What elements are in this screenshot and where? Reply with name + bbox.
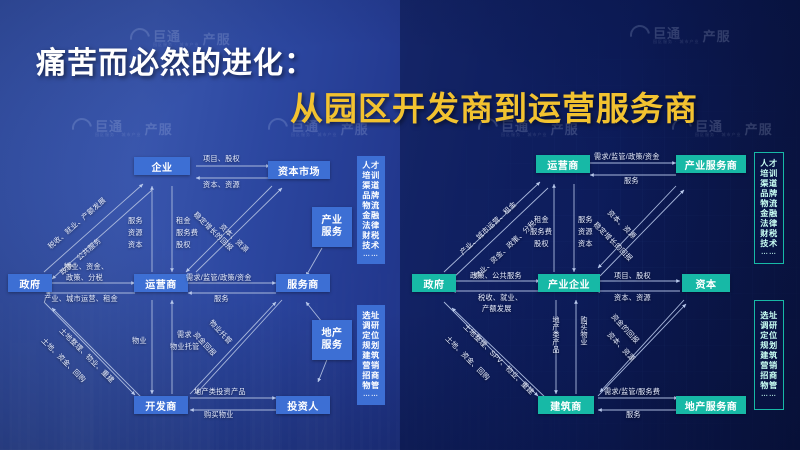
diagram-connectors	[0, 0, 800, 450]
edge-label-yysh-kfsh-left: 物业	[132, 336, 147, 345]
edge-label-yysh-kfsh-r2: 物业托管	[170, 342, 200, 351]
edge-label-r-yysh-cyfws-top: 需求/监管/政策/资金	[594, 152, 660, 161]
edge-label-yysh-qiye-c1l1: 服务	[128, 216, 143, 225]
node-right-chanye-fuwushang[interactable]: 产业服务商	[676, 155, 746, 173]
edge-label-qiye-zbsc-top: 项目、股权	[203, 154, 240, 163]
edge-label-r-jzs-dcfws-bottom: 服务	[626, 410, 641, 419]
node-dichan-fuwu[interactable]: 地产 服务	[312, 320, 352, 360]
node-chanye-fuwu-line2: 服务	[322, 227, 343, 240]
edge-label-zhengfu-yysh-bottom: 产业、城市运营、租金	[44, 294, 118, 303]
node-fuwushang[interactable]: 服务商	[276, 274, 330, 292]
edge-label-r-zhengfu-cyqy-b1: 税收、就业、	[478, 293, 522, 302]
service-list-industry-left: 人才 培训 渠道 品牌 物流 金融 法律 财税 技术 ……	[357, 156, 385, 264]
edge-label-yysh-fwsh-bottom: 服务	[214, 294, 229, 303]
node-zhengfu[interactable]: 政府	[8, 274, 52, 292]
edge-label-yysh-kfsh-r1: 需求	[177, 330, 192, 339]
node-dichan-fuwu-line1: 地产	[322, 328, 343, 341]
edge-label-zhengfu-yysh-top-l1: 物业、资金、	[64, 262, 108, 271]
slide-canvas: 巨通园区服务 · 城市产业 产服 巨通园区服务 · 城市产业 产服 巨通园区服务…	[0, 0, 800, 450]
edge-label-r-yysh-cyqy-c1l2: 服务费	[530, 227, 552, 236]
edge-label-yysh-qiye-c1l2: 资源	[128, 228, 143, 237]
edge-label-r-zhengfu-cyqy-b2: 产额发展	[482, 304, 512, 313]
edge-label-r-cyqy-ziben-top: 项目、股权	[614, 271, 651, 280]
edge-label-r-yysh-cyqy-c2l3: 资本	[578, 239, 593, 248]
service-list-realestate-right: 选址 调研 定位 规划 建筑 营销 招商 物管 ……	[754, 300, 784, 410]
edge-label-qiye-zbsc-bottom: 资本、资源	[203, 180, 240, 189]
edge-label-zhengfu-yysh-top-l2: 政策、分税	[66, 273, 103, 282]
edge-label-kfsh-tzr-bottom: 购买物业	[204, 410, 234, 419]
edge-label-r-yysh-cyqy-c2l2: 资源	[578, 227, 593, 236]
node-right-chanye-qiye[interactable]: 产业企业	[538, 274, 600, 292]
node-right-ziben[interactable]: 资本	[682, 274, 730, 292]
edge-label-yysh-qiye-c1l3: 资本	[128, 240, 143, 249]
edge-label-r-yysh-cyqy-c2l1: 服务	[578, 215, 593, 224]
edge-label-r-yysh-cyqy-c1l3: 股权	[534, 239, 549, 248]
edge-label-yysh-qiye-c2l2: 服务费	[176, 228, 198, 237]
edge-label-kfsh-tzr-top: 地产类投资产品	[194, 387, 246, 396]
node-chanye-fuwu-line1: 产业	[322, 215, 343, 228]
node-dichan-fuwu-line2: 服务	[322, 340, 343, 353]
edge-label-r-jzs-dcfws-top: 需求/监管/服务费	[604, 387, 660, 396]
edge-label-r-yysh-cyfws-bottom: 服务	[624, 176, 639, 185]
service-list-industry-right: 人才 培训 渠道 品牌 物流 金融 法律 财税 技术 ……	[754, 152, 784, 264]
node-touziren[interactable]: 投资人	[276, 396, 330, 414]
node-qiye[interactable]: 企业	[134, 157, 190, 175]
edge-label-r-zhengfu-cyqy-top: 政策、公共服务	[470, 271, 522, 280]
edge-label-r-cyqy-jzs-right: 购买物业	[580, 316, 589, 346]
edge-label-r-cyqy-ziben-bottom: 资本、资源	[614, 293, 651, 302]
edge-label-r-cyqy-jzs-left: 地产类产品	[552, 316, 561, 353]
edge-label-yysh-fwsh-top: 需求/监管/政策/资金	[186, 273, 252, 282]
edge-label-yysh-qiye-c2l1: 租金	[176, 216, 191, 225]
node-right-zhengfu[interactable]: 政府	[412, 274, 456, 292]
node-right-yunyingshang[interactable]: 运营商	[536, 155, 590, 173]
node-right-dichan-fuwushang[interactable]: 地产服务商	[676, 396, 746, 414]
service-list-realestate-left: 选址 调研 定位 规划 建筑 营销 招商 物管 ……	[357, 305, 385, 405]
node-yunyingshang[interactable]: 运营商	[134, 274, 188, 292]
node-right-jianzhushang[interactable]: 建筑商	[538, 396, 594, 414]
node-kaifashang[interactable]: 开发商	[134, 396, 188, 414]
edge-label-yysh-qiye-c2l3: 股权	[176, 240, 191, 249]
edge-label-r-yysh-cyqy-c1l1: 租金	[534, 215, 549, 224]
node-zibenshichang[interactable]: 资本市场	[268, 161, 330, 179]
node-chanye-fuwu[interactable]: 产业 服务	[312, 207, 352, 247]
